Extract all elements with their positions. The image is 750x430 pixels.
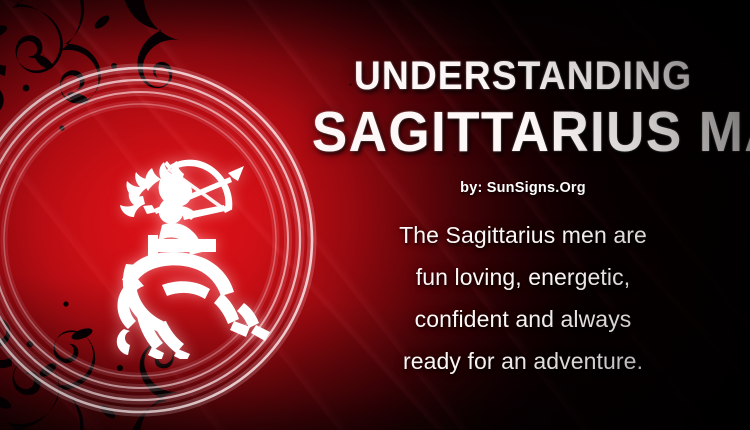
sagittarius-man-banner: UNDERSTANDING SAGITTARIUS MAN by: SunSig…	[0, 0, 750, 430]
vignette-overlay	[0, 0, 750, 430]
